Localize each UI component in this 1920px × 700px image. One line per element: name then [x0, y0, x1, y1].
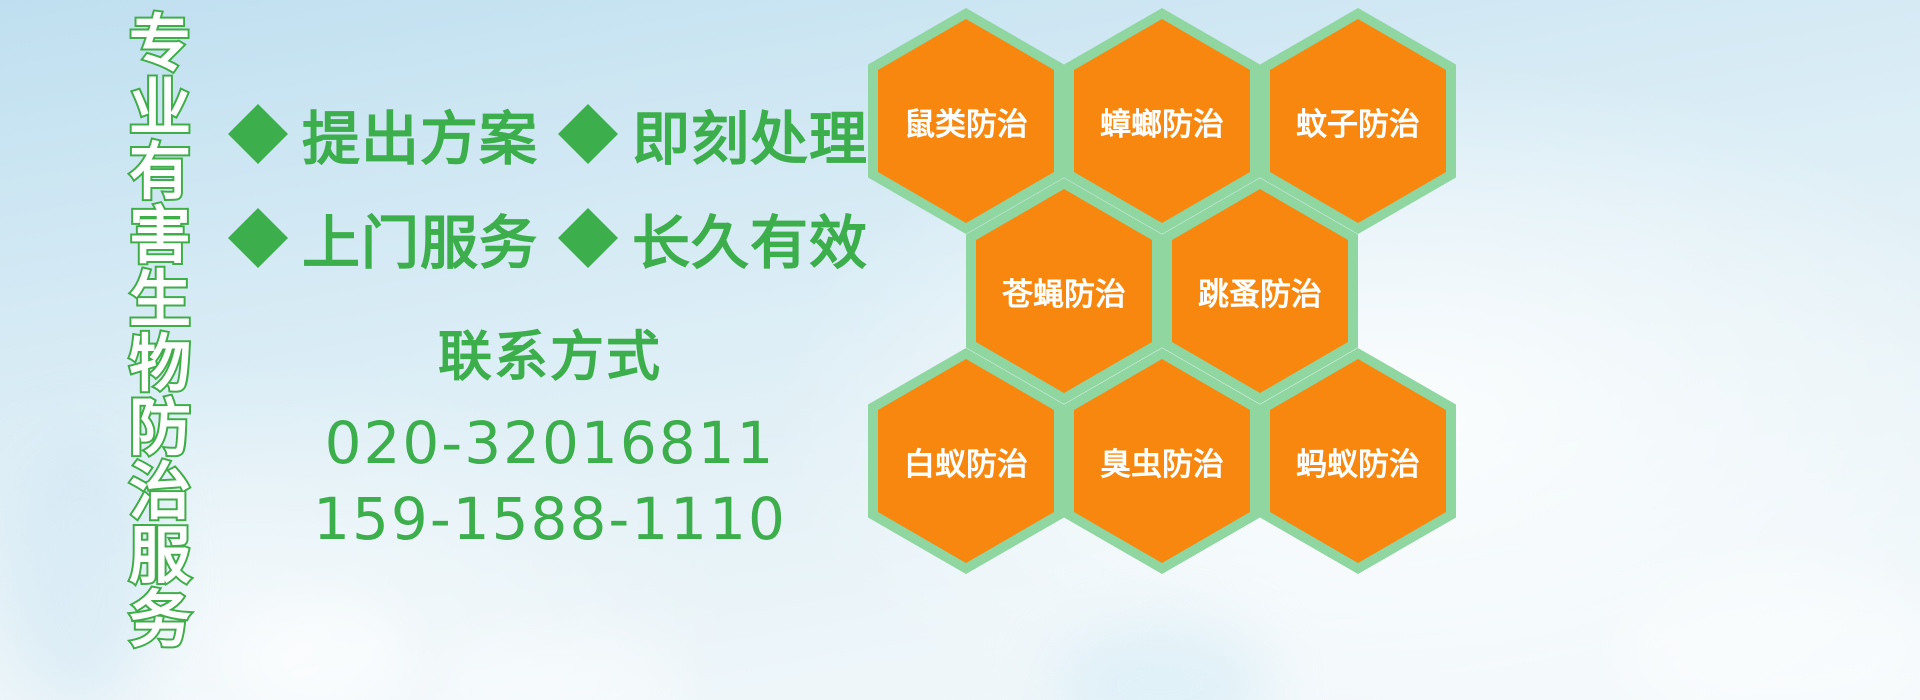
hex-inner-fill: 蚂蚁防治 — [1270, 359, 1446, 563]
feature-label: 上门服务 — [302, 196, 538, 280]
contact-title: 联系方式 — [300, 312, 800, 391]
headline-char: 生 — [129, 268, 191, 332]
background-blur-blob — [1620, 560, 1920, 700]
feature-item: 提出方案 — [228, 92, 538, 176]
diamond-bullet-icon — [228, 74, 288, 134]
hex-inner-fill: 臭虫防治 — [1074, 359, 1250, 563]
hex-inner-fill: 蚊子防治 — [1270, 19, 1446, 223]
headline-char: 业 — [129, 76, 191, 140]
phone-number-landline[interactable]: 020-32016811 — [300, 405, 800, 481]
hex-inner-fill: 鼠类防治 — [878, 19, 1054, 223]
feature-row: 上门服务 长久有效 — [228, 186, 868, 290]
feature-label: 提出方案 — [302, 92, 538, 176]
feature-item: 上门服务 — [228, 196, 538, 280]
pest-control-banner: 专 业 有 害 生 物 防 治 服 务 提出方案 即刻处理 上门服务 — [0, 0, 1920, 700]
service-label: 臭虫防治 — [1100, 439, 1224, 484]
vertical-headline: 专 业 有 害 生 物 防 治 服 务 — [108, 12, 212, 672]
service-label: 蟑螂防治 — [1100, 99, 1224, 144]
feature-item: 长久有效 — [558, 196, 868, 280]
feature-list: 提出方案 即刻处理 上门服务 长久有效 — [228, 82, 868, 290]
service-label: 苍蝇防治 — [1002, 269, 1126, 314]
feature-label: 即刻处理 — [632, 92, 868, 176]
phone-number-mobile[interactable]: 159-1588-1110 — [300, 481, 800, 557]
hex-inner-fill: 白蚁防治 — [878, 359, 1054, 563]
service-label: 蚂蚁防治 — [1296, 439, 1420, 484]
headline-char: 治 — [129, 460, 191, 524]
headline-char: 务 — [129, 588, 191, 652]
headline-char: 服 — [129, 524, 191, 588]
service-label: 鼠类防治 — [904, 99, 1028, 144]
headline-char: 有 — [129, 140, 191, 204]
diamond-bullet-icon — [558, 74, 618, 134]
feature-label: 长久有效 — [632, 196, 868, 280]
headline-char: 害 — [129, 204, 191, 268]
contact-block: 联系方式 020-32016811 159-1588-1110 — [300, 312, 800, 557]
service-label: 白蚁防治 — [904, 439, 1028, 484]
background-blur-blob — [430, 630, 690, 700]
hex-inner-fill: 跳蚤防治 — [1172, 189, 1348, 393]
headline-char: 防 — [129, 396, 191, 460]
feature-item: 即刻处理 — [558, 92, 868, 176]
hex-inner-fill: 苍蝇防治 — [976, 189, 1152, 393]
diamond-bullet-icon — [558, 178, 618, 238]
service-label: 跳蚤防治 — [1198, 269, 1322, 314]
service-label: 蚊子防治 — [1296, 99, 1420, 144]
headline-char: 专 — [129, 12, 191, 76]
headline-char: 物 — [129, 332, 191, 396]
service-honeycomb: 鼠类防治 蟑螂防治 蚊子防治 苍蝇防治 跳蚤防治 白蚁防治 — [852, 0, 1472, 700]
hex-inner-fill: 蟑螂防治 — [1074, 19, 1250, 223]
diamond-bullet-icon — [228, 178, 288, 238]
background-blur-blob — [230, 600, 410, 700]
feature-row: 提出方案 即刻处理 — [228, 82, 868, 186]
